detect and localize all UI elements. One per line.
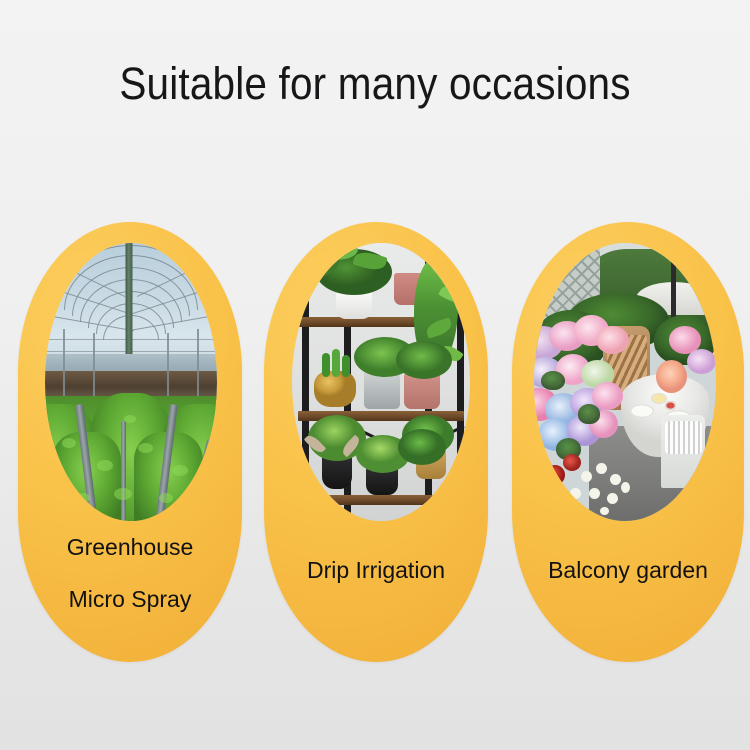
panel-caption-line1-greenhouse: Greenhouse: [18, 536, 242, 559]
greenhouse-photo: [45, 243, 217, 521]
product-feature-banner: Suitable for many occasions: [0, 0, 750, 750]
occasion-panel-drip-irrigation[interactable]: Drip Irrigation: [264, 222, 488, 662]
page-title: Suitable for many occasions: [38, 58, 713, 110]
plant-shelf-photo: [292, 243, 470, 521]
occasion-panel-list: Greenhouse Micro Spray: [0, 222, 750, 664]
panel-caption-line2-greenhouse: Micro Spray: [18, 588, 242, 611]
plant-shelf-photo-art: [292, 243, 470, 521]
balcony-garden-photo: [534, 243, 716, 521]
greenhouse-photo-art: [45, 243, 217, 521]
panel-caption-balcony-garden: Balcony garden: [512, 559, 744, 582]
occasion-panel-balcony-garden[interactable]: Balcony garden: [512, 222, 744, 662]
balcony-garden-photo-art: [534, 243, 716, 521]
panel-caption-drip-irrigation: Drip Irrigation: [264, 559, 488, 582]
occasion-panel-greenhouse[interactable]: Greenhouse Micro Spray: [18, 222, 242, 662]
